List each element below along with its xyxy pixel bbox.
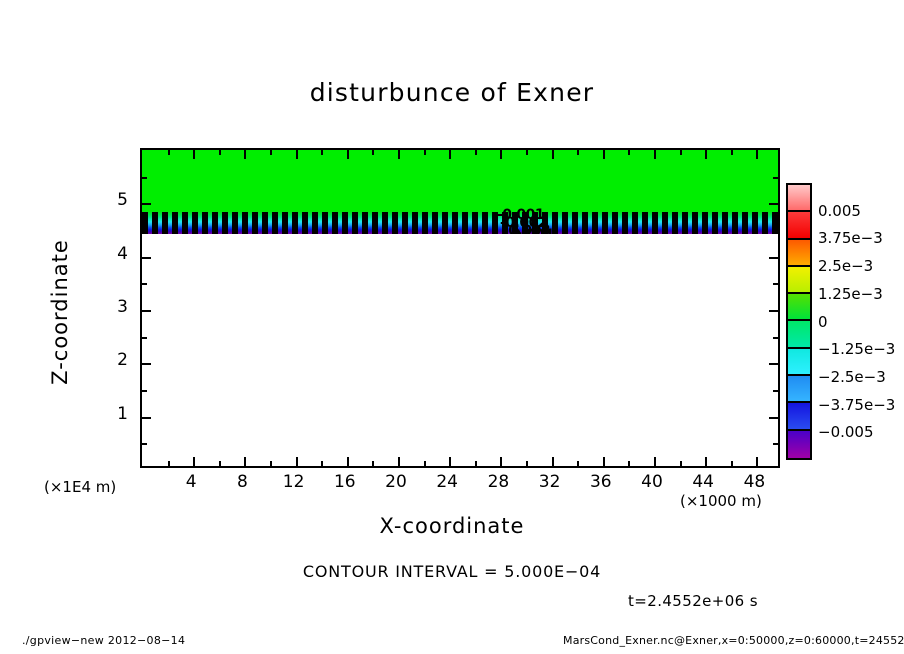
x-axis-minor-tick [219,150,221,155]
x-axis-title: X-coordinate [0,514,904,538]
y-axis-minor-tick [142,443,147,445]
x-axis-minor-tick [424,461,426,466]
contour-interval-annotation: CONTOUR INTERVAL = 5.000E−04 [0,562,904,581]
y-axis-tick-label: 4 [96,244,128,264]
y-axis-major-tick [769,310,778,312]
y-axis-minor-tick [142,230,147,232]
plot-area: -0.001-0.002-0.003-0.004 [140,148,780,468]
colorbar-tick-label: −1.25e−3 [818,340,895,358]
x-axis-minor-tick [321,461,323,466]
y-axis-major-tick [142,203,151,205]
x-axis-major-tick [296,150,298,159]
x-axis-major-tick [347,150,349,159]
x-axis-tick-label: 44 [683,472,723,492]
y-axis-minor-tick [142,177,147,179]
x-axis-minor-tick [270,461,272,466]
x-axis-minor-tick [680,461,682,466]
colorbar-tick-label: −2.5e−3 [818,368,886,386]
x-axis-minor-tick [731,461,733,466]
colorbar-segment [788,267,810,294]
colorbar-tick-label: 1.25e−3 [818,285,883,303]
x-axis-tick-label: 24 [427,472,467,492]
y-axis-minor-tick [773,443,778,445]
y-axis-major-tick [769,203,778,205]
x-axis-tick-label: 40 [632,472,672,492]
x-axis-major-tick [756,150,758,159]
y-axis-minor-tick [142,283,147,285]
x-axis-major-tick [449,457,451,466]
y-axis-minor-tick [142,390,147,392]
y-axis-minor-tick [773,283,778,285]
x-axis-tick-label: 32 [530,472,570,492]
x-axis-major-tick [500,150,502,159]
y-axis-tick-label: 1 [96,404,128,424]
x-axis-major-tick [552,457,554,466]
x-axis-unit-label: (×1000 m) [680,492,762,510]
colorbar-segment [788,212,810,239]
x-axis-minor-tick [475,461,477,466]
colorbar-tick-label: 0.005 [818,202,861,220]
x-axis-minor-tick [270,150,272,155]
x-axis-minor-tick [372,461,374,466]
y-axis-minor-tick [142,337,147,339]
y-axis-major-tick [769,257,778,259]
x-axis-tick-label: 16 [325,472,365,492]
page-title: disturbunce of Exner [0,78,904,107]
y-axis-tick-label: 3 [96,297,128,317]
x-axis-major-tick [654,150,656,159]
x-axis-major-tick [398,457,400,466]
x-axis-major-tick [296,457,298,466]
heatmap-data-region: -0.001-0.002-0.003-0.004 [142,150,778,234]
colorbar-tick-label: 0 [818,313,828,331]
x-axis-minor-tick [628,150,630,155]
y-axis-major-tick [142,363,151,365]
x-axis-minor-tick [219,461,221,466]
y-axis-tick-label: 5 [96,190,128,210]
y-axis-minor-tick [773,230,778,232]
y-axis-major-tick [142,417,151,419]
x-axis-minor-tick [731,150,733,155]
x-axis-tick-label: 12 [274,472,314,492]
colorbar-tick-label: −0.005 [818,423,874,441]
colorbar-segment [788,240,810,267]
x-axis-tick-label: 4 [171,472,211,492]
x-axis-major-tick [603,457,605,466]
x-axis-major-tick [347,457,349,466]
x-axis-major-tick [193,150,195,159]
colorbar-segment [788,185,810,212]
x-axis-major-tick [244,457,246,466]
heatmap-uniform-band [142,150,778,211]
colorbar-tick-label: 3.75e−3 [818,229,883,247]
x-axis-minor-tick [577,461,579,466]
y-axis-tick-label: 2 [96,350,128,370]
x-axis-major-tick [449,150,451,159]
x-axis-minor-tick [680,150,682,155]
colorbar-segment [788,349,810,376]
footer-command-label: ./gpview−new 2012−08−14 [22,634,185,647]
x-axis-minor-tick [526,150,528,155]
x-axis-minor-tick [168,150,170,155]
contour-label: -0.004 [506,227,553,233]
y-axis-major-tick [142,257,151,259]
y-axis-major-tick [142,310,151,312]
y-axis-major-tick [769,417,778,419]
x-axis-major-tick [705,457,707,466]
y-axis-minor-tick [773,337,778,339]
colorbar-segment [788,294,810,321]
time-annotation: t=2.4552e+06 s [628,592,758,610]
contour-line [142,233,778,234]
x-axis-major-tick [500,457,502,466]
x-axis-minor-tick [424,150,426,155]
x-axis-major-tick [654,457,656,466]
x-axis-minor-tick [475,150,477,155]
y-axis-major-tick [769,363,778,365]
x-axis-minor-tick [321,150,323,155]
x-axis-major-tick [552,150,554,159]
y-axis-minor-tick [773,390,778,392]
colorbar-segment [788,431,810,458]
x-axis-major-tick [193,457,195,466]
footer-source-label: MarsCond_Exner.nc@Exner,x=0:50000,z=0:60… [563,634,904,647]
x-axis-tick-label: 28 [478,472,518,492]
x-axis-tick-label: 8 [222,472,262,492]
x-axis-major-tick [244,150,246,159]
z-axis-unit-label: (×1E4 m) [44,478,116,496]
x-axis-minor-tick [372,150,374,155]
x-axis-minor-tick [628,461,630,466]
x-axis-tick-label: 20 [376,472,416,492]
y-axis-title: Z-coordinate [48,212,72,412]
x-axis-major-tick [756,457,758,466]
x-axis-major-tick [603,150,605,159]
colorbar-segment [788,403,810,430]
x-axis-minor-tick [168,461,170,466]
x-axis-tick-label: 36 [581,472,621,492]
colorbar [786,183,812,460]
x-axis-minor-tick [577,150,579,155]
colorbar-tick-label: −3.75e−3 [818,396,895,414]
x-axis-major-tick [705,150,707,159]
contour-labels-group: -0.001-0.002-0.003-0.004 [497,207,587,233]
x-axis-tick-label: 48 [734,472,774,492]
y-axis-minor-tick [773,177,778,179]
colorbar-segment [788,321,810,348]
colorbar-segment [788,376,810,403]
x-axis-minor-tick [526,461,528,466]
colorbar-tick-label: 2.5e−3 [818,257,873,275]
x-axis-major-tick [398,150,400,159]
